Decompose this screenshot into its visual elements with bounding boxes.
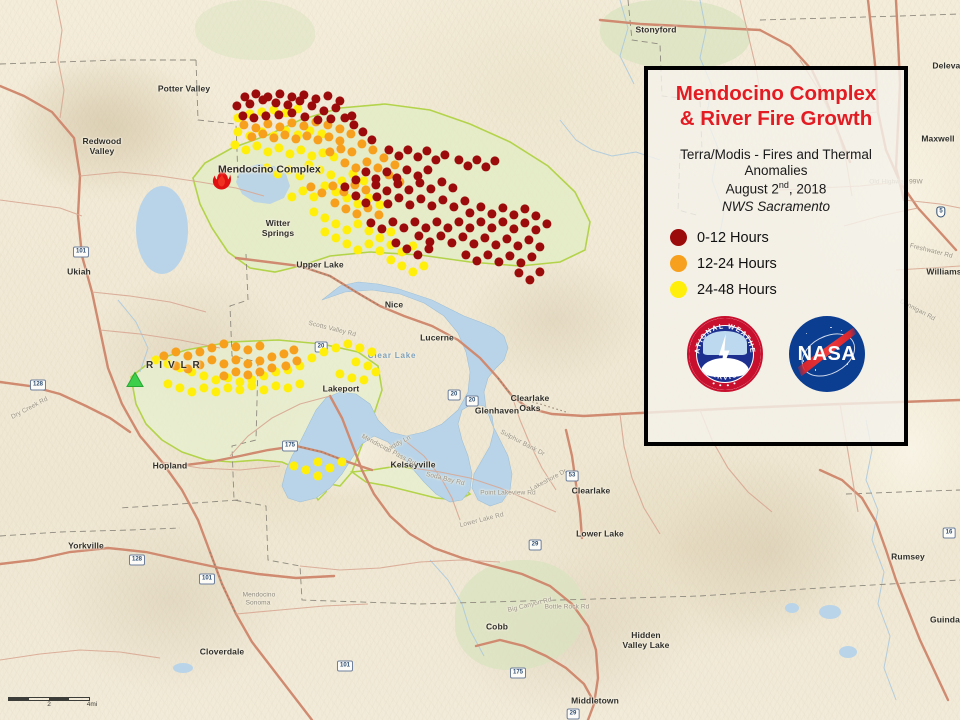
legend-title-line1: Mendocino Complex [648, 83, 904, 106]
legend-swatch-1 [670, 255, 687, 272]
nws-seal-icon: NATIONAL WEATHER SERVICE [687, 316, 763, 392]
svg-text:SERVICE: SERVICE [705, 368, 744, 382]
map-label-clearlake: Clearlake [572, 487, 611, 496]
legend-label-0: 0-12 Hours [697, 230, 769, 246]
map-label-hidden-valley-lake: HiddenValley Lake [623, 631, 670, 651]
map-label-redwood-valley: RedwoodValley [83, 137, 122, 157]
map-label-cloverdale: Cloverdale [200, 648, 244, 657]
fire-label-r-i-v-l-r: R I V L R [146, 361, 201, 372]
map-label-witter-springs: WitterSprings [262, 219, 294, 239]
legend-subtitle-line1: Terra/Modis - Fires and Thermal [648, 147, 904, 163]
highway-shield-101: 101 [337, 661, 353, 672]
highway-shield-128: 128 [129, 555, 145, 566]
svg-text:NATIONAL WEATHER: NATIONAL WEATHER [689, 318, 756, 354]
highway-shield-29: 29 [567, 709, 580, 720]
highway-shield-128: 128 [30, 380, 46, 391]
map-label-delevan: Delevan [932, 62, 960, 71]
legend-item-0: 0-12 Hours [670, 229, 904, 246]
fire-map-screenshot: Potter ValleyStonyfordRedwoodValleyMaxwe… [0, 0, 960, 720]
map-label-rumsey: Rumsey [891, 553, 925, 562]
highway-shield-20: 20 [448, 390, 461, 401]
nasa-wordmark: NASA [789, 316, 865, 392]
nws-seal-ring-text: NATIONAL WEATHER SERVICE [689, 318, 761, 390]
legend-subtitle-line2: Anomalies [648, 163, 904, 179]
map-label-lucerne: Lucerne [420, 334, 454, 343]
scale-tick-0: 2 [47, 701, 51, 708]
scale-bar: 2 4mi [8, 697, 90, 701]
highway-shield-16: 16 [943, 528, 956, 539]
map-label-mendocino: Mendocino [243, 593, 276, 600]
map-label-point-lakeview-rd: Point Lakeview Rd [480, 491, 536, 498]
map-label-middletown: Middletown [571, 697, 619, 706]
highway-shield-101: 101 [199, 574, 215, 585]
fire-label-mendocino-complex: Mendocino Complex [218, 164, 321, 175]
legend-panel: Mendocino Complex & River Fire Growth Te… [644, 66, 908, 446]
map-label-bottle-rock-rd: Bottle Rock Rd [545, 605, 590, 612]
map-label-maxwell: Maxwell [921, 135, 954, 144]
legend-date-suffix: , 2018 [789, 182, 827, 197]
legend-swatch-0 [670, 229, 687, 246]
map-label-upper-lake: Upper Lake [296, 261, 343, 270]
legend-date: August 2nd, 2018 [648, 180, 904, 198]
highway-shield-29: 29 [529, 540, 542, 551]
map-label-hopland: Hopland [153, 462, 188, 471]
highway-shield-5: 5 [936, 207, 945, 218]
legend-date-superscript: nd [779, 180, 789, 190]
map-label-lakeport: Lakeport [323, 385, 360, 394]
legend-office: NWS Sacramento [648, 199, 904, 215]
legend-items-list: 0-12 Hours12-24 Hours24-48 Hours [670, 229, 904, 298]
legend-logos: NATIONAL WEATHER SERVICE [648, 316, 904, 392]
map-label-ukiah: Ukiah [67, 268, 91, 277]
highway-shield-20: 20 [466, 396, 479, 407]
map-label-potter-valley: Potter Valley [158, 85, 210, 94]
map-label-sonoma: Sonoma [246, 601, 271, 608]
highway-shield-101: 101 [73, 247, 89, 258]
fire-triangle-icon [126, 372, 144, 393]
legend-date-prefix: August 2 [726, 182, 779, 197]
map-label-guinda: Guinda [930, 616, 960, 625]
legend-label-2: 24-48 Hours [697, 282, 777, 298]
legend-title-line2: & River Fire Growth [648, 108, 904, 131]
nasa-meatball-icon: NASA [789, 316, 865, 392]
legend-label-1: 12-24 Hours [697, 256, 777, 272]
highway-shield-175: 175 [510, 668, 526, 679]
map-label-yorkville: Yorkville [68, 542, 104, 551]
scale-tick-1: 4mi [87, 701, 97, 708]
map-label-stonyford: Stonyford [635, 26, 676, 35]
legend-item-1: 12-24 Hours [670, 255, 904, 272]
map-label-williams: Williams [926, 268, 960, 277]
map-label-lower-lake: Lower Lake [576, 530, 624, 539]
map-label-nice: Nice [385, 301, 403, 310]
highway-shield-175: 175 [282, 441, 298, 452]
highway-shield-53: 53 [566, 471, 579, 482]
map-label-cobb: Cobb [486, 623, 508, 632]
legend-item-2: 24-48 Hours [670, 281, 904, 298]
legend-swatch-2 [670, 281, 687, 298]
map-label-clearlake-oaks: ClearlakeOaks [511, 394, 550, 414]
